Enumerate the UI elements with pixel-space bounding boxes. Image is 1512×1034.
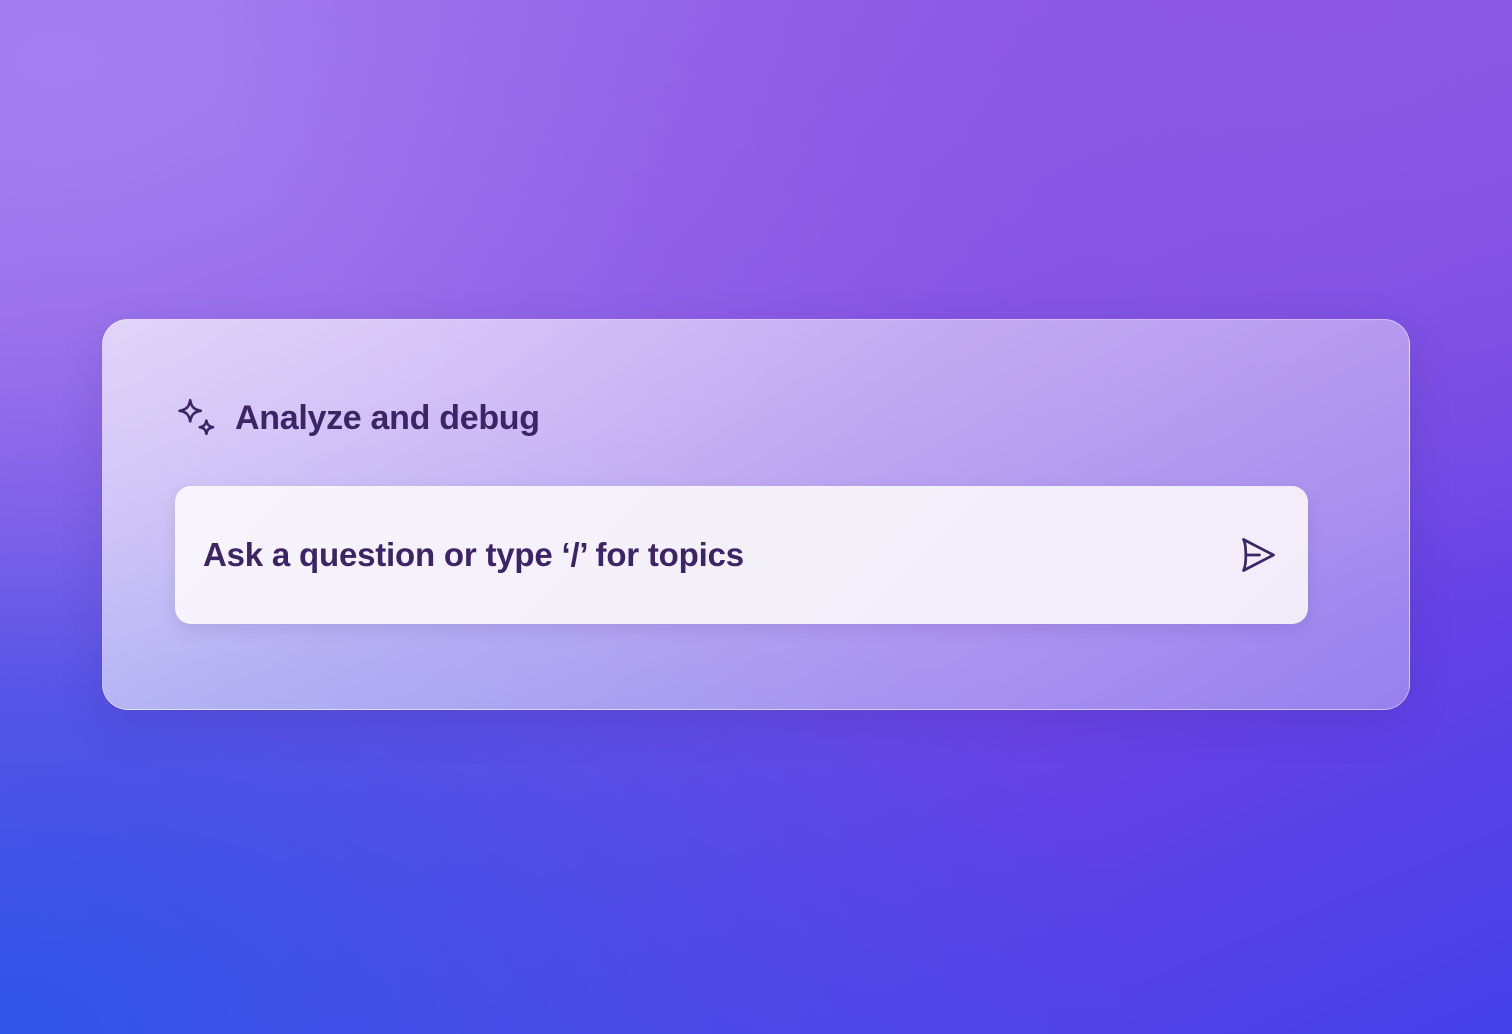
app-background: Analyze and debug [0, 0, 1512, 1034]
prompt-input[interactable] [203, 536, 1220, 574]
sparkles-icon [175, 395, 219, 441]
page-title: Analyze and debug [235, 401, 540, 435]
send-button[interactable] [1220, 517, 1296, 593]
card-header: Analyze and debug [175, 395, 540, 441]
prompt-card: Analyze and debug [102, 319, 1410, 710]
prompt-input-row[interactable] [175, 486, 1308, 624]
